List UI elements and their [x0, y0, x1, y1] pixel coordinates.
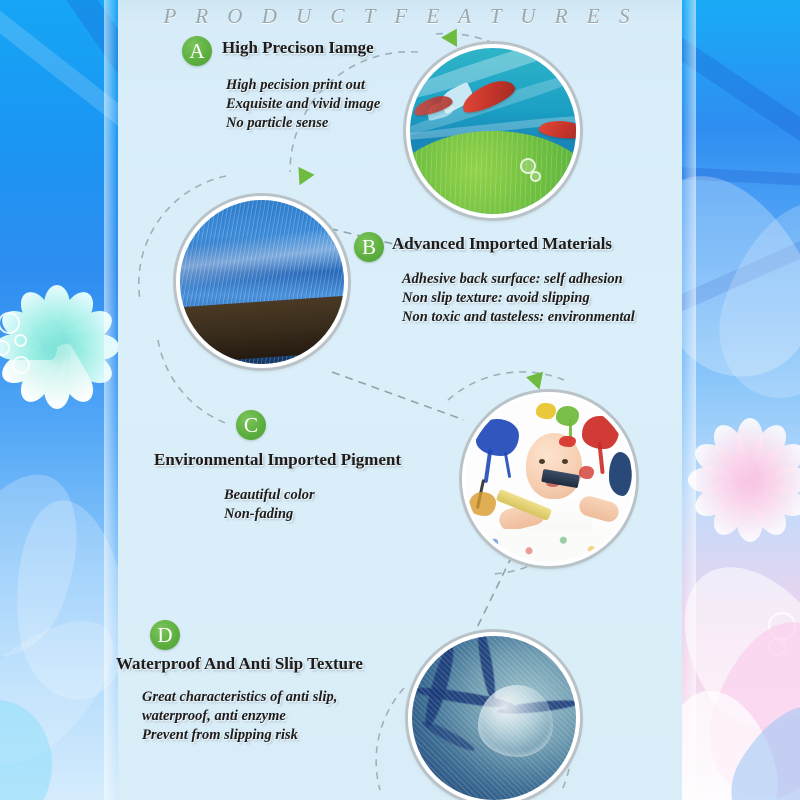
feature-bullet: High pecision print out	[226, 76, 380, 95]
feature-badge-c: C	[236, 410, 266, 440]
feature-bullet: Prevent from slipping risk	[142, 726, 337, 745]
content-panel: P R O D U C T F E A T U R E S	[118, 0, 682, 800]
lily-pad-texture	[410, 131, 576, 214]
right-decorative-edge	[682, 0, 800, 800]
feature-bullet: No particle sense	[226, 114, 380, 133]
swirl-decor-icon	[12, 356, 30, 374]
swirl-decor-icon	[768, 612, 796, 640]
cyan-daisy-flower	[0, 282, 118, 412]
right-inner-soft-edge	[682, 0, 696, 800]
connector-c-d	[470, 556, 512, 642]
petal-shape	[682, 680, 788, 800]
left-edge-gradient	[0, 0, 118, 800]
petal-shape	[682, 148, 800, 403]
ribbon-shape	[682, 165, 800, 191]
feature-badge-d: D	[150, 620, 180, 650]
paint-mark-on-face	[559, 436, 576, 448]
feature-bullet: Non toxic and tasteless: environmental	[402, 308, 635, 327]
feature-heading-c: Environmental Imported Pigment	[154, 450, 401, 470]
petal-shape	[713, 687, 800, 800]
feature-bullets-d: Great characteristics of anti slip, wate…	[142, 688, 337, 745]
ribbon-shape	[682, 9, 800, 171]
feature-bullet: Non-fading	[224, 505, 315, 524]
paint-splatter	[536, 403, 556, 420]
ribbon-shape	[0, 0, 118, 150]
petal-shape	[6, 495, 118, 705]
swirl-decor-icon	[0, 340, 10, 356]
paint-mark-on-face	[579, 466, 594, 479]
paint-splatter	[556, 406, 579, 426]
swirl-decor-icon	[14, 334, 27, 347]
painting-baby-photo	[462, 392, 636, 566]
feature-badge-b: B	[354, 232, 384, 262]
petal-shape	[682, 538, 800, 752]
arrow-b-icon	[291, 167, 314, 189]
paint-splatter	[609, 452, 632, 495]
koi-pond-print-photo	[406, 44, 580, 218]
feature-bullets-b: Adhesive back surface: self adhesion Non…	[402, 270, 635, 327]
arrow-c-icon	[526, 372, 548, 393]
paint-splatter	[476, 419, 519, 456]
feature-heading-b: Advanced Imported Materials	[392, 234, 612, 254]
ribbon-shape	[721, 0, 800, 81]
feature-bullet: Exquisite and vivid image	[226, 95, 380, 114]
waterproof-texture-photo	[408, 632, 580, 800]
feature-bullet: Adhesive back surface: self adhesion	[402, 270, 635, 289]
feature-bullet: waterproof, anti enzyme	[142, 707, 337, 726]
right-edge-gradient	[682, 0, 800, 800]
water-bubble	[530, 171, 541, 182]
dashed-arc-d2	[376, 688, 404, 790]
ribbon-shape	[0, 0, 118, 81]
left-inner-soft-edge	[104, 0, 118, 800]
feature-heading-d: Waterproof And Anti Slip Texture	[116, 654, 363, 674]
petal-shape	[0, 593, 118, 788]
connector-b-c	[332, 372, 464, 420]
feature-bullets-c: Beautiful color Non-fading	[224, 486, 315, 524]
pink-daisy-flower	[690, 420, 800, 540]
petal-shape	[694, 607, 800, 800]
blue-fabric-material-photo	[176, 196, 348, 368]
feature-heading-a: High Precison Iamge	[222, 38, 374, 58]
feature-bullet: Non slip texture: avoid slipping	[402, 289, 635, 308]
anti-slip-hatch-texture	[412, 636, 576, 800]
swirl-decor-icon	[768, 638, 786, 656]
petal-shape	[0, 454, 105, 675]
painted-paper	[476, 529, 632, 562]
feature-bullets-a: High pecision print out Exquisite and vi…	[226, 76, 380, 133]
feature-bullet: Great characteristics of anti slip,	[142, 688, 337, 707]
product-features-poster: P R O D U C T F E A T U R E S	[0, 0, 800, 800]
petal-shape	[0, 700, 52, 800]
feature-badge-a: A	[182, 36, 212, 66]
paint-splatter	[469, 492, 496, 515]
swirl-decor-icon	[0, 312, 20, 334]
feature-bullet: Beautiful color	[224, 486, 315, 505]
left-decorative-edge	[0, 0, 118, 800]
ribbon-shape	[682, 198, 800, 318]
petal-shape	[700, 185, 800, 415]
